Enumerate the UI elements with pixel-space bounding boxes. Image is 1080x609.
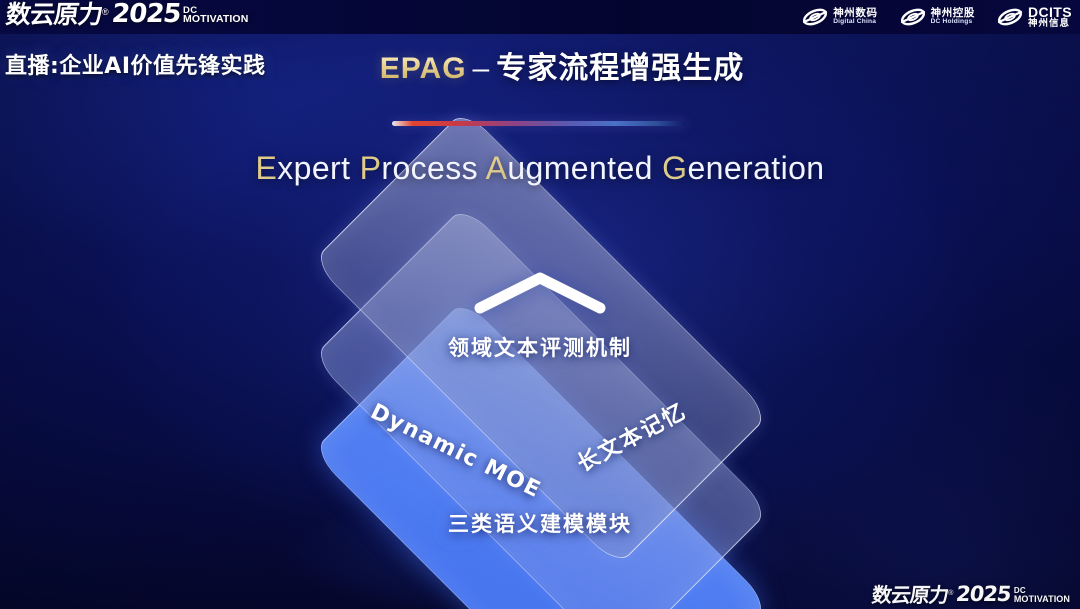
diagram-label-top: 领域文本评测机制 bbox=[0, 332, 1080, 362]
swoosh-logo-icon bbox=[900, 6, 926, 28]
partner-dcits: DCITS 神州信息 bbox=[997, 5, 1072, 29]
brand-name-cn: 数云原力 bbox=[4, 2, 103, 27]
title-dash: – bbox=[467, 52, 497, 85]
gradient-divider bbox=[392, 121, 686, 126]
subtitle-seg-1: xpert bbox=[277, 150, 359, 186]
brand-year: 2025 bbox=[110, 1, 182, 27]
partner-label: DCITS 神州信息 bbox=[1028, 5, 1072, 29]
watermark-dc-line2: MOTIVATION bbox=[1014, 595, 1070, 603]
chevron-up-icon bbox=[470, 268, 610, 316]
subtitle-seg-7: eneration bbox=[687, 150, 824, 186]
partner-name-en: Digital China bbox=[833, 19, 877, 26]
subtitle-seg-6: G bbox=[662, 150, 687, 186]
swoosh-logo-icon bbox=[997, 6, 1023, 28]
partner-dc-holdings: 神州控股 DC Holdings bbox=[900, 6, 975, 28]
subtitle-seg-2: P bbox=[360, 150, 382, 186]
partner-digital-china: 神州数码 Digital China bbox=[802, 6, 877, 28]
watermark-name-cn: 数云原力 bbox=[871, 585, 949, 605]
watermark-registered-mark: ® bbox=[948, 590, 953, 597]
subtitle-seg-0: E bbox=[255, 150, 277, 186]
diagram-label-bottom: 三类语义建模模块 bbox=[0, 508, 1080, 538]
layered-architecture-diagram bbox=[200, 200, 880, 600]
page-subtitle: Expert Process Augmented Generation bbox=[0, 150, 1080, 187]
partner-name-en: DCITS bbox=[1028, 5, 1072, 19]
swoosh-logo-icon bbox=[802, 6, 828, 28]
slide-canvas: 数云原力 ® 2025 DC MOTIVATION 直播:企业AI价值先锋实践 … bbox=[0, 0, 1080, 609]
watermark-dc-motivation: DC MOTIVATION bbox=[1014, 587, 1070, 603]
title-chinese: 专家流程增强生成 bbox=[496, 51, 744, 86]
brand-dc-motivation: DC MOTIVATION bbox=[183, 7, 248, 25]
registered-mark: ® bbox=[102, 8, 109, 17]
partner-name-cn: 神州信息 bbox=[1028, 19, 1072, 29]
brand-logo: 数云原力 ® 2025 DC MOTIVATION bbox=[6, 1, 248, 27]
brand-dc-line2: MOTIVATION bbox=[183, 15, 248, 25]
partner-label: 神州数码 Digital China bbox=[833, 8, 877, 25]
partner-logos: 神州数码 Digital China 神州控股 DC Holdings bbox=[802, 3, 1072, 31]
title-acronym: EPAG bbox=[380, 52, 467, 85]
page-title-inner: EPAG–专家流程增强生成 bbox=[336, 52, 744, 85]
corner-watermark-logo: 数云原力 ® 2025 DC MOTIVATION bbox=[872, 584, 1070, 605]
partner-name-en: DC Holdings bbox=[931, 19, 975, 26]
partner-label: 神州控股 DC Holdings bbox=[931, 8, 975, 25]
watermark-year: 2025 bbox=[955, 584, 1012, 605]
livestream-label: 直播:企业AI价值先锋实践 bbox=[5, 48, 266, 80]
